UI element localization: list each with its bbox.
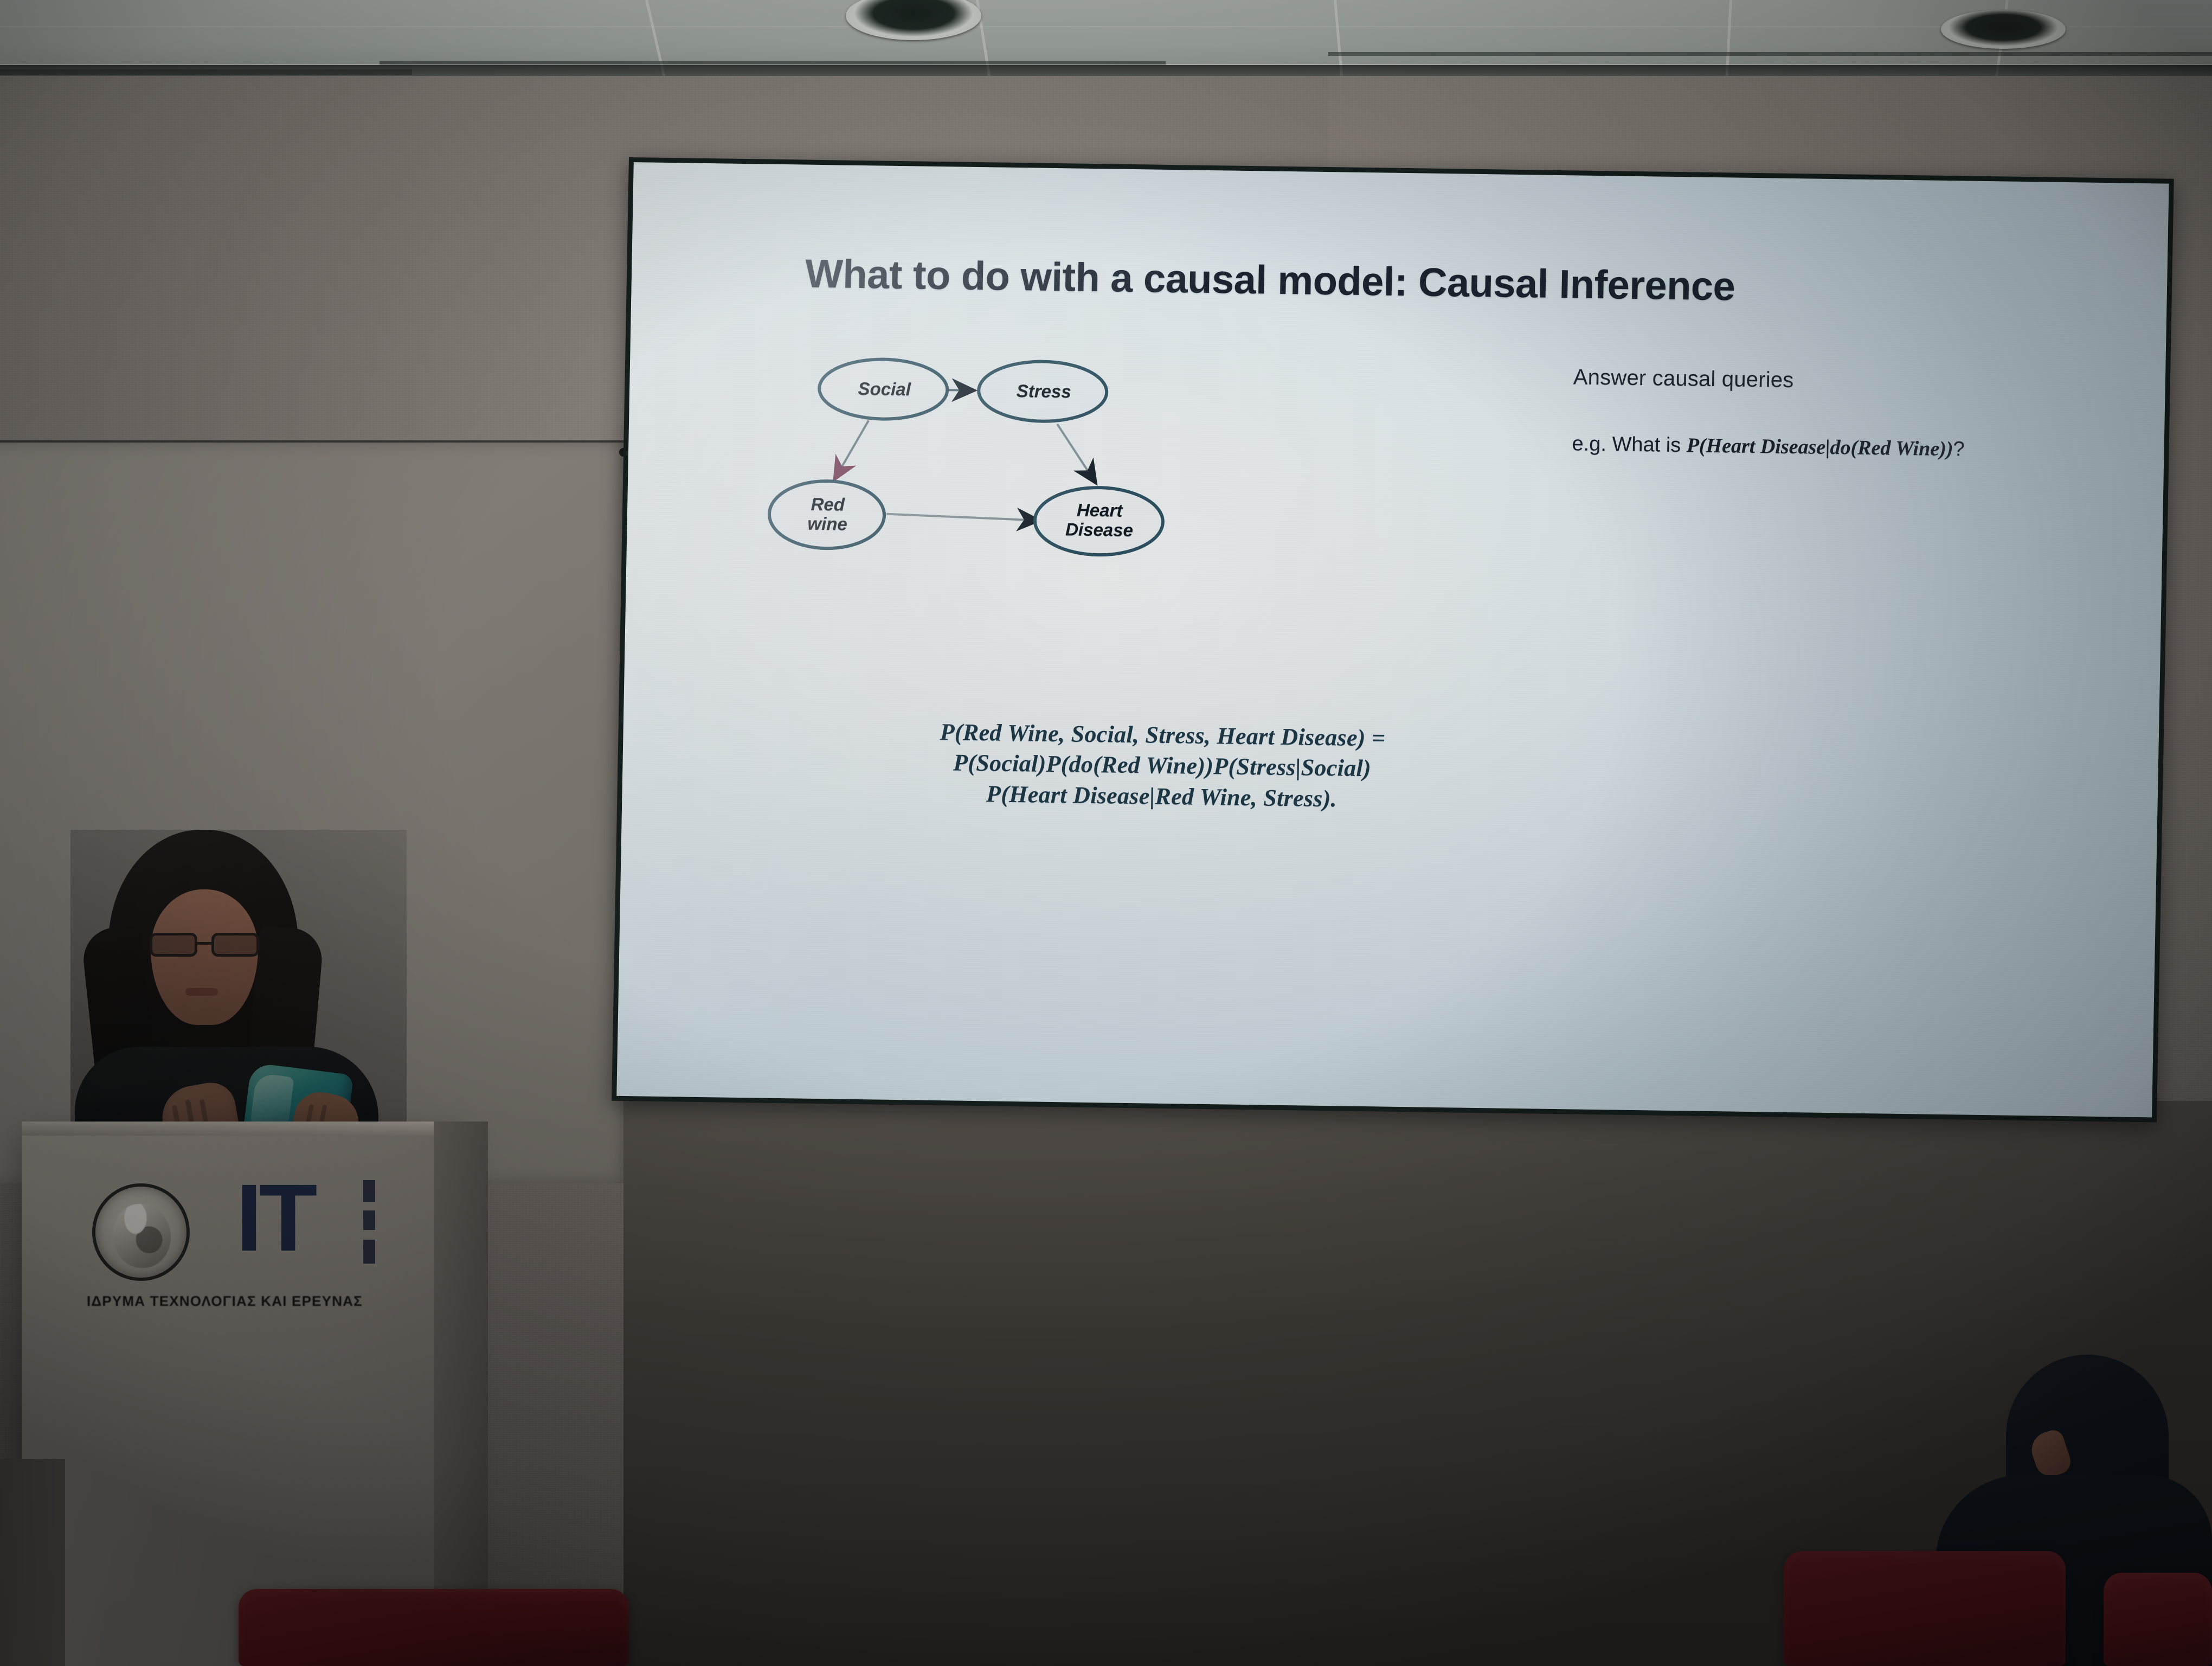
institution-seal-icon [92, 1183, 190, 1281]
edge-stress-heart [1056, 424, 1096, 482]
query-example-math: P(Heart Disease|do(Red Wine)) [1686, 434, 1953, 460]
logo-monogram: IT [236, 1172, 314, 1264]
query-example-suffix: ? [1953, 438, 1965, 460]
lecture-hall-photo: What to do with a causal model: Causal I… [0, 0, 2212, 1666]
eyeglasses-icon [147, 933, 261, 957]
query-block: Answer causal queries e.g. What is P(Hea… [1572, 365, 2121, 463]
edge-social-redwine [835, 420, 869, 479]
ceiling-downlight-icon [846, 0, 981, 40]
query-heading: Answer causal queries [1573, 365, 2121, 397]
speaker [70, 830, 407, 1166]
query-example-prefix: e.g. What is [1572, 432, 1687, 457]
node-stress [978, 361, 1107, 422]
institution-logo: IT ΙΔΡΥΜΑ ΤΕΧΝΟΛΟΓΙΑΣ ΚΑΙ ΕΡΕΥΝΑΣ [92, 1172, 428, 1335]
logo-subtitle: ΙΔΡΥΜΑ ΤΕΧΝΟΛΟΓΙΑΣ ΚΑΙ ΕΡΕΥΝΑΣ [87, 1293, 434, 1310]
node-heart [1034, 487, 1163, 556]
podium-top-edge [22, 1122, 466, 1136]
speaker-mouth [185, 988, 218, 996]
screen-frame: What to do with a causal model: Causal I… [612, 157, 2174, 1123]
query-example: e.g. What is P(Heart Disease|do(Red Wine… [1572, 432, 2120, 463]
auditorium-chair [1784, 1551, 2066, 1666]
logo-dot-column-icon [363, 1177, 375, 1269]
slide-texture [616, 162, 2169, 1117]
edge-redwine-heart [886, 514, 1038, 521]
ceiling-downlight-icon [1941, 10, 2066, 49]
presentation-slide: What to do with a causal model: Causal I… [616, 162, 2169, 1117]
projection-screen: What to do with a causal model: Causal I… [612, 157, 2174, 1123]
factorization-formula: P(Red Wine, Social, Stress, Heart Diseas… [738, 714, 1586, 818]
podium: IT ΙΔΡΥΜΑ ΤΕΧΝΟΛΟΓΙΑΣ ΚΑΙ ΕΡΕΥΝΑΣ [22, 1133, 466, 1666]
node-redwine [769, 480, 885, 549]
podium-side-panel [434, 1122, 488, 1666]
causal-dag-diagram: Social Stress Red wine Heart Disease [772, 354, 1417, 618]
slide-glare [616, 162, 2169, 1117]
auditorium-chair [239, 1589, 629, 1666]
auditorium-chair [2104, 1573, 2212, 1666]
speaker-face [151, 889, 258, 1025]
node-social [819, 358, 948, 420]
podium-base [0, 1459, 65, 1666]
slide-title: What to do with a causal model: Causal I… [805, 251, 1735, 310]
